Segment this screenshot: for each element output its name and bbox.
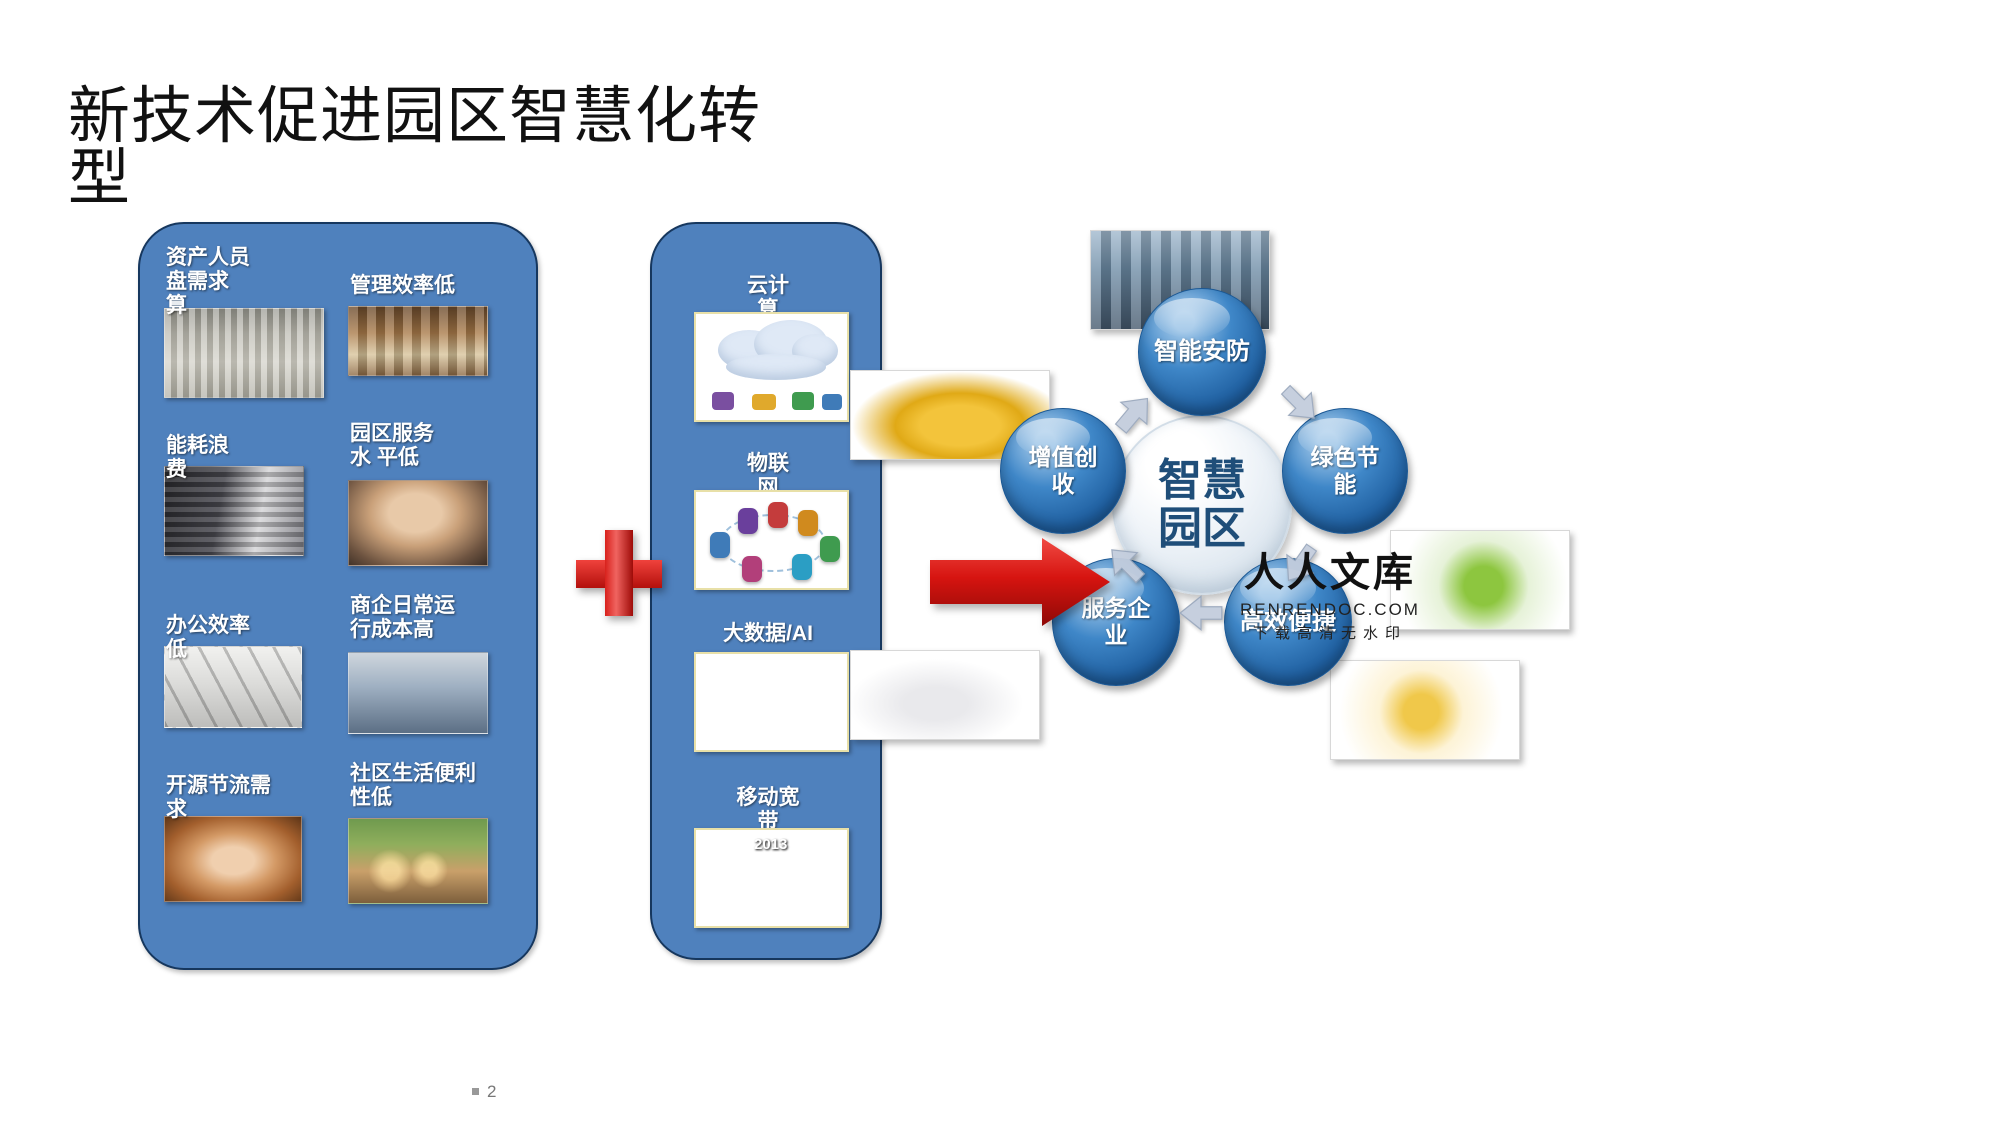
tech-label-2: 大数据/AI [652,622,884,646]
problem-label-1: 管理效率低 [350,274,455,298]
tech-image-2 [694,652,849,752]
problem-image-1 [348,306,488,376]
problem-image-7 [348,818,488,904]
slide-canvas: 新技术促进园区智慧化转 型 资产人员 盘需求 算 管理效率低 能耗浪 费 园区服… [0,0,2000,1126]
problem-label-3: 园区服务 水 平低 [350,422,434,470]
problem-label-7: 社区生活便利 性低 [350,762,476,810]
problems-panel: 资产人员 盘需求 算 管理效率低 能耗浪 费 园区服务 水 平低 办公效率 低 … [138,222,538,970]
problem-label-2: 能耗浪 费 [166,434,229,482]
tech-image-3-caption: 2013 [754,836,787,853]
page-bullet-icon [472,1088,479,1095]
problem-label-6: 开源节流需 求 [166,774,271,822]
gear-clock-photo [1330,660,1520,760]
right-arrow-icon [930,536,1110,628]
tech-item-2: 大数据/AI [652,622,884,646]
page-number: 2 [487,1082,496,1102]
diagram-node-security[interactable]: 智能安防 [1138,288,1266,416]
page-title-line1: 新技术促进园区智慧化转 [68,86,928,148]
problem-label-4: 办公效率 低 [166,614,250,662]
tech-image-1 [694,490,849,590]
page-title-line2: 型 [68,148,928,210]
tech-image-0 [694,312,849,422]
tech-item-0: 云计 算 [652,274,884,322]
page-title: 新技术促进园区智慧化转 型 [68,86,928,210]
problem-label-5: 商企日常运 行成本高 [350,594,455,642]
problem-image-6 [164,816,302,902]
tech-item-3: 移动宽 带 2013 [652,786,884,834]
plus-sign-icon [576,530,662,616]
green-house-photo [1390,530,1570,630]
success-arrow-photo [850,650,1040,740]
problem-image-5 [348,652,488,734]
technology-panel: 云计 算 物联 网 [650,222,882,960]
problem-image-3 [348,480,488,566]
problem-label-0: 资产人员 盘需求 算 [166,246,250,318]
smart-park-diagram: 智慧 园区 智能安防 绿色节 能 高效便捷 服务企 业 增值创 收 [1060,240,1940,940]
tech-image-3: 2013 [694,828,849,928]
problem-image-0 [164,308,324,398]
